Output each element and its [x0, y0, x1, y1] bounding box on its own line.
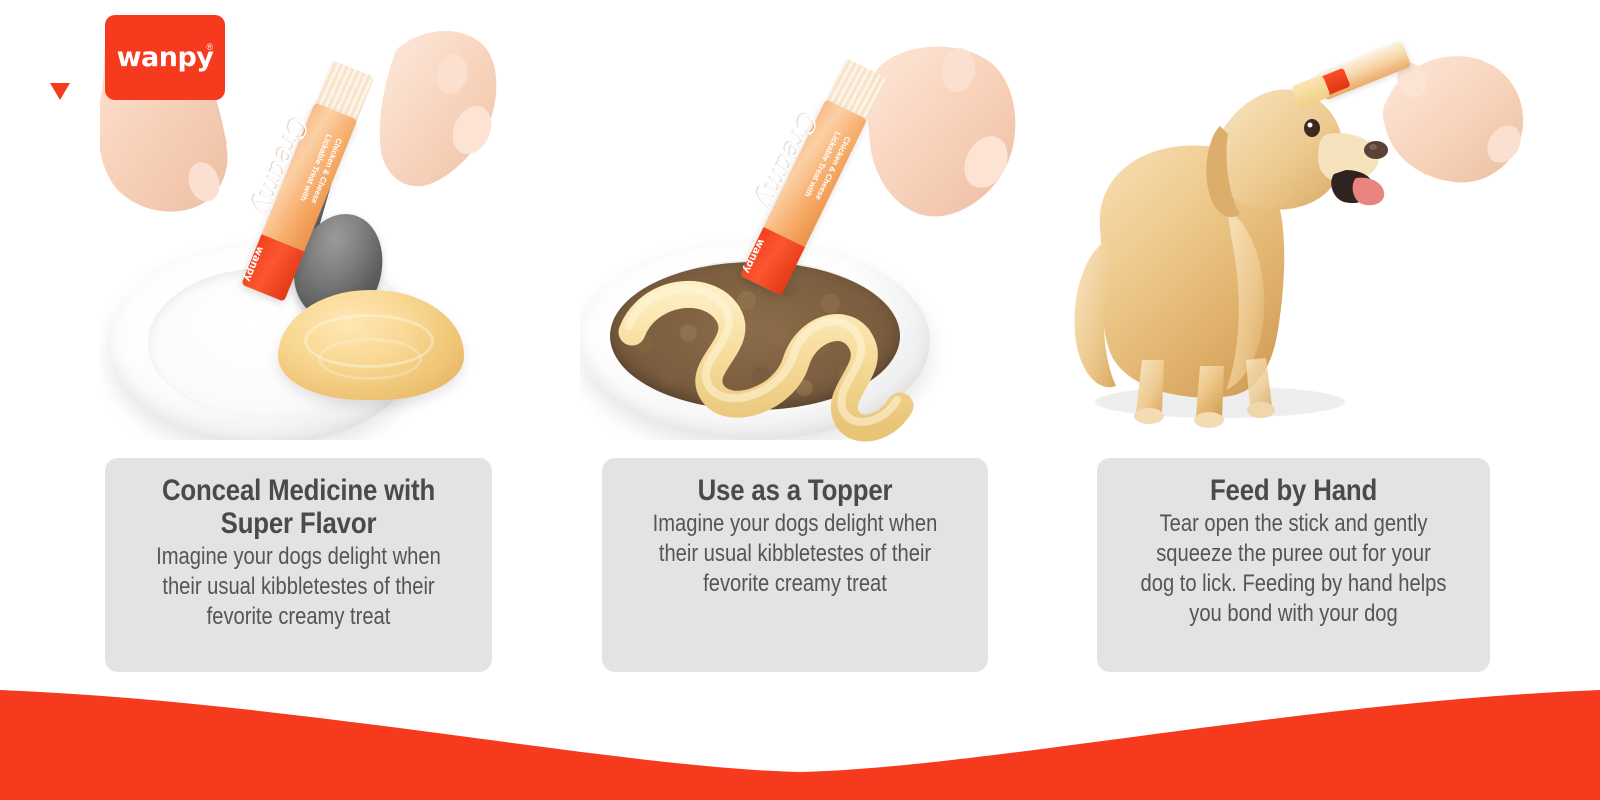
promo-banner: Creamy Lickable Treat with Chicken & Che…	[0, 0, 1600, 800]
info-card-title: Use as a Topper	[641, 474, 949, 507]
brand-logo-text: wanpy	[105, 15, 225, 100]
info-card-title: Feed by Hand	[1137, 474, 1451, 507]
logo-tail-pointer	[50, 83, 70, 100]
info-card-title: Conceal Medicine with Super Flavor	[144, 474, 453, 540]
info-card-use-as-topper: Use as a Topper Imagine your dogs deligh…	[602, 458, 988, 672]
registered-trademark-icon: ®	[206, 42, 213, 52]
info-card-conceal-medicine: Conceal Medicine with Super Flavor Imagi…	[105, 458, 492, 672]
right-hand	[380, 31, 499, 186]
info-card-body: Imagine your dogs delight when their usu…	[645, 509, 946, 599]
info-card-body: Tear open the stick and gently squeeze t…	[1140, 509, 1447, 629]
brand-logo-badge: wanpy ®	[105, 15, 225, 100]
info-card-feed-by-hand: Feed by Hand Tear open the stick and gen…	[1097, 458, 1490, 672]
bottom-red-wave	[0, 650, 1600, 800]
wave-shape	[0, 690, 1600, 800]
info-card-body: Imagine your dogs delight when their usu…	[148, 542, 450, 632]
